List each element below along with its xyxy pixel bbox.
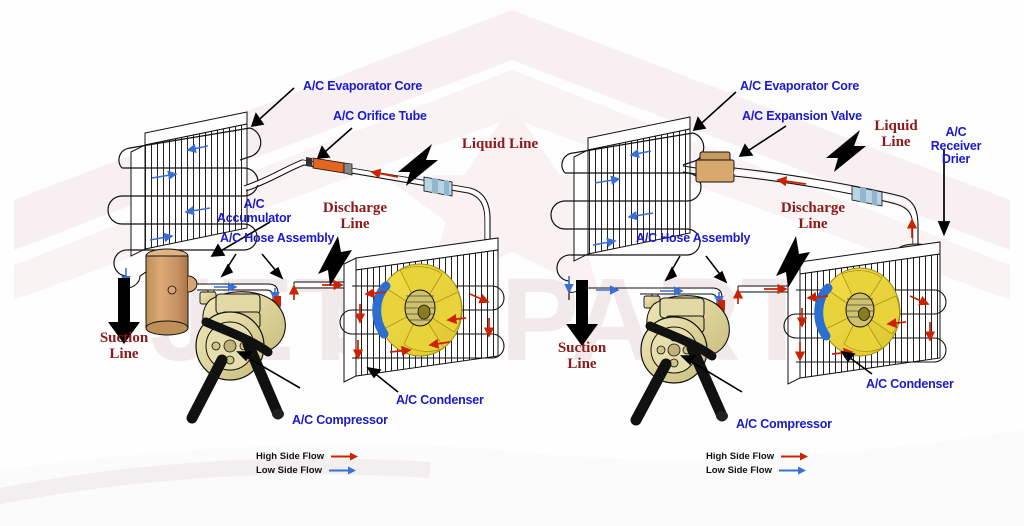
label-left-accumulator-line1: A/C bbox=[244, 197, 265, 211]
label-left-suction-line2: Line bbox=[109, 346, 138, 362]
high-flow-arrow-icon bbox=[781, 452, 809, 461]
label-left-hose-assembly: A/C Hose Assembly bbox=[220, 232, 334, 246]
label-right-receiver-drier-line2: Receiver bbox=[931, 139, 982, 153]
label-right-suction-line1: Suction bbox=[558, 340, 606, 356]
label-right-discharge-line2: Line bbox=[798, 216, 827, 232]
right-expansion-valve bbox=[683, 152, 734, 182]
label-left-compressor: A/C Compressor bbox=[292, 414, 388, 428]
legend-left: High Side Flow Low Side Flow bbox=[256, 450, 359, 478]
legend-left-low-row: Low Side Flow bbox=[256, 464, 359, 478]
label-right-suction-line: Suction Line bbox=[532, 340, 632, 372]
label-right-receiver-drier-line3: Drier bbox=[942, 152, 970, 166]
legend-right-low-label: Low Side Flow bbox=[706, 465, 772, 476]
legend-left-high-row: High Side Flow bbox=[256, 450, 359, 464]
legend-right: High Side Flow Low Side Flow bbox=[706, 450, 809, 478]
low-flow-arrow-icon bbox=[329, 466, 357, 475]
label-left-discharge-line2: Line bbox=[340, 216, 369, 232]
label-left-liquid-line: Liquid Line bbox=[440, 136, 560, 152]
low-flow-arrow-icon bbox=[779, 466, 807, 475]
label-left-accumulator-line2: Accumulator bbox=[217, 211, 291, 225]
label-left-suction-line: Suction Line bbox=[74, 330, 174, 362]
high-flow-arrow-icon bbox=[331, 452, 359, 461]
label-right-hose-assembly: A/C Hose Assembly bbox=[636, 232, 750, 246]
label-right-expansion-valve: A/C Expansion Valve bbox=[742, 110, 862, 124]
label-right-receiver-drier-line1: A/C bbox=[946, 125, 967, 139]
right-condenser bbox=[784, 242, 946, 384]
legend-right-low-row: Low Side Flow bbox=[706, 464, 809, 478]
label-right-condenser: A/C Condenser bbox=[866, 378, 954, 392]
legend-left-low-label: Low Side Flow bbox=[256, 465, 322, 476]
right-condenser-fan bbox=[819, 268, 900, 356]
label-right-compressor: A/C Compressor bbox=[736, 418, 832, 432]
label-left-orifice-tube: A/C Orifice Tube bbox=[333, 110, 427, 124]
right-system-graphics bbox=[0, 0, 1024, 526]
label-right-liquid-line1: Liquid bbox=[874, 118, 917, 134]
label-right-discharge-line1: Discharge bbox=[781, 200, 845, 216]
label-right-liquid-line: Liquid Line bbox=[860, 118, 932, 150]
label-left-discharge-line1: Discharge bbox=[323, 200, 387, 216]
label-right-suction-line2: Line bbox=[567, 356, 596, 372]
label-left-accumulator: A/C Accumulator bbox=[208, 198, 300, 225]
diagram-canvas: JET SOPARTS bbox=[0, 0, 1024, 526]
right-evaporator-core bbox=[551, 117, 704, 300]
label-right-liquid-line2: Line bbox=[881, 134, 910, 150]
label-left-condenser: A/C Condenser bbox=[396, 394, 484, 408]
label-right-discharge-line: Discharge Line bbox=[768, 200, 858, 232]
legend-right-high-row: High Side Flow bbox=[706, 450, 809, 464]
label-left-evaporator-core: A/C Evaporator Core bbox=[303, 80, 422, 94]
label-left-discharge-line: Discharge Line bbox=[310, 200, 400, 232]
label-left-suction-line1: Suction bbox=[100, 330, 148, 346]
legend-right-high-label: High Side Flow bbox=[706, 451, 774, 462]
label-right-evaporator-core: A/C Evaporator Core bbox=[740, 80, 859, 94]
legend-left-high-label: High Side Flow bbox=[256, 451, 324, 462]
